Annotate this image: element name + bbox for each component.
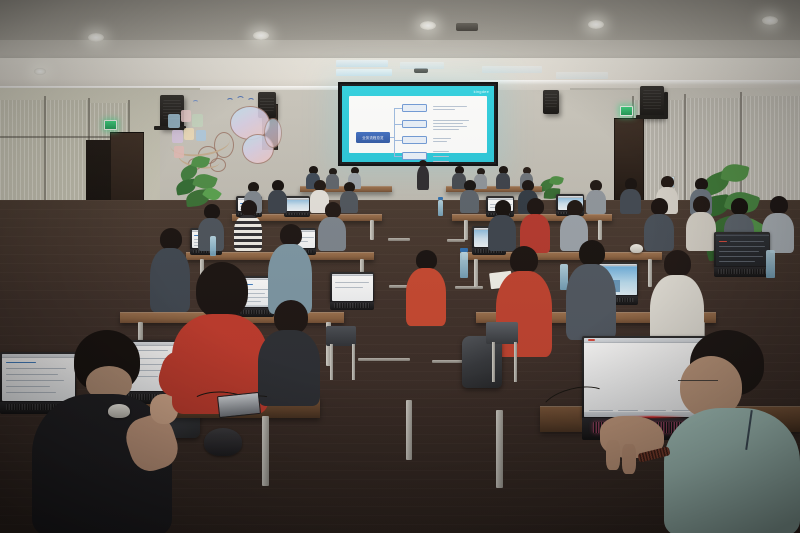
slide-note bbox=[433, 123, 463, 124]
hair bbox=[651, 198, 668, 215]
screen-content-row bbox=[719, 256, 763, 257]
attendee bbox=[268, 224, 312, 312]
laptop-keyboard[interactable] bbox=[286, 213, 308, 216]
slide-connector bbox=[394, 124, 402, 125]
laptop-base bbox=[714, 267, 770, 277]
mural-doodle bbox=[236, 96, 245, 105]
chair[interactable] bbox=[486, 322, 518, 344]
ceiling-light-panel bbox=[400, 62, 444, 69]
screen-content-row bbox=[335, 287, 363, 288]
hair bbox=[241, 200, 257, 216]
slide-node-2 bbox=[402, 120, 427, 128]
attendee bbox=[460, 180, 479, 212]
hair bbox=[510, 246, 538, 274]
phone[interactable] bbox=[217, 392, 261, 418]
hair bbox=[196, 262, 248, 318]
mural-photo-collage bbox=[196, 130, 206, 141]
slide-connector bbox=[390, 137, 395, 138]
bottle-cap bbox=[438, 197, 443, 200]
floor-outlet-strip bbox=[455, 286, 483, 289]
slide-note bbox=[433, 120, 469, 121]
torso bbox=[566, 264, 616, 340]
finger bbox=[606, 440, 620, 470]
chair-leg bbox=[514, 342, 517, 382]
slide-connector bbox=[394, 156, 402, 157]
torso bbox=[496, 173, 510, 189]
laptop-base bbox=[284, 212, 310, 217]
slide-canvas: 业务流程总览 bbox=[349, 96, 487, 153]
torso bbox=[258, 330, 320, 406]
mural-doodle bbox=[192, 100, 199, 107]
ceiling-light-panel bbox=[482, 66, 542, 73]
slide-note bbox=[433, 151, 449, 152]
laptop-screen bbox=[332, 274, 373, 301]
chair-leg bbox=[352, 344, 355, 380]
attendee bbox=[644, 198, 674, 250]
laptop[interactable] bbox=[714, 232, 770, 278]
ceiling-light-panel bbox=[336, 69, 392, 76]
hair bbox=[664, 250, 691, 277]
attendee-hand bbox=[600, 410, 690, 480]
chair-leg bbox=[330, 344, 333, 380]
torso bbox=[268, 190, 287, 213]
attendee bbox=[258, 300, 320, 404]
laptop-keyboard[interactable] bbox=[718, 269, 765, 274]
torso bbox=[496, 271, 552, 357]
slide-connector bbox=[394, 140, 402, 141]
finger bbox=[622, 444, 636, 474]
laptop-lid bbox=[284, 196, 310, 212]
hair bbox=[495, 200, 511, 216]
desk-leg bbox=[496, 410, 503, 488]
hair bbox=[770, 196, 788, 214]
water-bottle[interactable] bbox=[766, 250, 775, 278]
attendee bbox=[496, 166, 510, 188]
water-bottle[interactable] bbox=[210, 236, 216, 256]
bottle-cap bbox=[460, 248, 468, 252]
water-bottle[interactable] bbox=[460, 252, 468, 278]
hair bbox=[527, 198, 544, 215]
screen-content-row bbox=[719, 241, 727, 242]
slide-note bbox=[433, 109, 455, 110]
attendee bbox=[268, 180, 287, 212]
computer-mouse-icon[interactable] bbox=[630, 244, 643, 253]
hair bbox=[204, 204, 220, 219]
ceiling-sensor bbox=[456, 23, 478, 31]
torso bbox=[644, 214, 674, 251]
slide-node-1 bbox=[402, 104, 427, 112]
laptop-lid bbox=[714, 232, 770, 267]
attendee-black-tee bbox=[32, 330, 172, 533]
projection-screen: kingdee 业务流程总览 bbox=[338, 82, 498, 166]
slide-trunk bbox=[394, 108, 395, 156]
slide-node-4 bbox=[402, 152, 427, 160]
laptop[interactable] bbox=[330, 272, 374, 312]
floor-outlet-strip bbox=[447, 239, 465, 242]
screen-content-row bbox=[588, 339, 595, 341]
training-room-photo: kingdee 业务流程总览 bbox=[0, 0, 800, 533]
chair-leg bbox=[492, 342, 495, 382]
torso bbox=[460, 190, 479, 213]
downlight-icon bbox=[588, 20, 604, 29]
hair bbox=[567, 200, 583, 216]
computer-mouse-icon[interactable] bbox=[108, 404, 130, 418]
glasses-icon bbox=[678, 380, 718, 381]
hair bbox=[416, 250, 437, 270]
slide-root-label: 业务流程总览 bbox=[362, 135, 384, 140]
ceiling-upper-band bbox=[0, 0, 800, 40]
torso bbox=[406, 268, 446, 326]
mural-bubble bbox=[264, 118, 282, 148]
chair[interactable] bbox=[326, 326, 356, 346]
attendee-red-top bbox=[172, 262, 268, 412]
mural-photo-collage bbox=[184, 128, 194, 140]
screen-content-row bbox=[6, 362, 36, 363]
laptop-screen bbox=[286, 198, 309, 211]
torso bbox=[620, 189, 641, 214]
presenter-torso bbox=[417, 166, 429, 190]
attendee-striped-top bbox=[234, 200, 262, 250]
desk-leg bbox=[598, 220, 602, 240]
torso bbox=[686, 212, 716, 251]
downlight-icon bbox=[88, 33, 104, 42]
downlight-icon bbox=[762, 16, 778, 25]
slide-note bbox=[433, 156, 449, 157]
slide-logo: kingdee bbox=[474, 89, 489, 94]
exit-sign-icon bbox=[104, 120, 117, 130]
attendee bbox=[586, 180, 606, 213]
exit-sign-icon bbox=[620, 106, 633, 116]
laptop-screen bbox=[716, 234, 769, 266]
screen-titlebar bbox=[286, 198, 309, 201]
hair bbox=[274, 300, 308, 334]
slide-note bbox=[433, 126, 467, 127]
torso bbox=[234, 215, 262, 251]
screen-content-row bbox=[719, 246, 765, 247]
screen-titlebar bbox=[332, 274, 373, 277]
slide-root-node: 业务流程总览 bbox=[356, 132, 390, 143]
screen-content-row bbox=[335, 282, 369, 283]
hair bbox=[325, 202, 341, 218]
downlight-icon bbox=[34, 68, 46, 75]
speaker-icon bbox=[543, 90, 559, 114]
ceiling-light-panel bbox=[556, 72, 608, 79]
mural-photo-collage bbox=[172, 130, 183, 143]
laptop-lid bbox=[330, 272, 374, 302]
attendee-red-top bbox=[520, 198, 550, 252]
attendee bbox=[406, 250, 446, 324]
attendee bbox=[566, 240, 616, 336]
laptop-base bbox=[330, 302, 374, 310]
screen-content-row bbox=[730, 241, 764, 242]
laptop[interactable] bbox=[284, 196, 310, 218]
speaker-icon bbox=[640, 86, 664, 118]
slide-note bbox=[433, 106, 467, 107]
attendee bbox=[318, 202, 346, 250]
slide-note bbox=[433, 161, 449, 162]
ceiling-light-panel bbox=[336, 60, 388, 67]
mural-doodle bbox=[226, 98, 234, 106]
slide-connector bbox=[394, 108, 402, 109]
screen-titlebar bbox=[716, 234, 769, 237]
desk-leg bbox=[406, 400, 412, 460]
hair bbox=[731, 198, 748, 215]
slide-note bbox=[433, 138, 451, 139]
desk-leg bbox=[474, 259, 478, 287]
attendee bbox=[620, 178, 641, 213]
mural-doodle bbox=[247, 98, 255, 106]
potted-plant-icon bbox=[176, 150, 222, 208]
attendee bbox=[488, 200, 516, 250]
presenter bbox=[416, 160, 430, 190]
mural-photo-collage bbox=[181, 110, 191, 122]
hair bbox=[579, 240, 605, 266]
hair bbox=[280, 224, 302, 246]
screen-content-row bbox=[719, 251, 759, 252]
speaker-mount bbox=[664, 92, 668, 118]
floor-outlet-strip bbox=[358, 358, 410, 361]
ceiling-beam bbox=[470, 80, 800, 85]
hair bbox=[693, 196, 710, 213]
slide-note bbox=[433, 129, 459, 130]
screen-content-row bbox=[719, 261, 755, 262]
mural-photo-collage bbox=[192, 114, 203, 127]
torso bbox=[318, 217, 346, 251]
torso bbox=[586, 190, 606, 214]
slide-note bbox=[433, 141, 447, 142]
desk-leg bbox=[464, 220, 468, 240]
downlight-icon bbox=[253, 31, 269, 40]
slide-node-3 bbox=[402, 136, 427, 144]
mural-photo-collage bbox=[168, 114, 180, 128]
water-bottle[interactable] bbox=[438, 200, 443, 216]
floor-outlet-strip bbox=[388, 238, 410, 241]
attendee bbox=[686, 196, 716, 250]
desk-leg bbox=[370, 220, 374, 240]
hair bbox=[160, 228, 182, 250]
slide-background: kingdee 业务流程总览 bbox=[342, 86, 494, 162]
screen-titlebar bbox=[558, 196, 583, 199]
downlight-icon bbox=[420, 21, 436, 30]
laptop-keyboard[interactable] bbox=[334, 303, 371, 307]
